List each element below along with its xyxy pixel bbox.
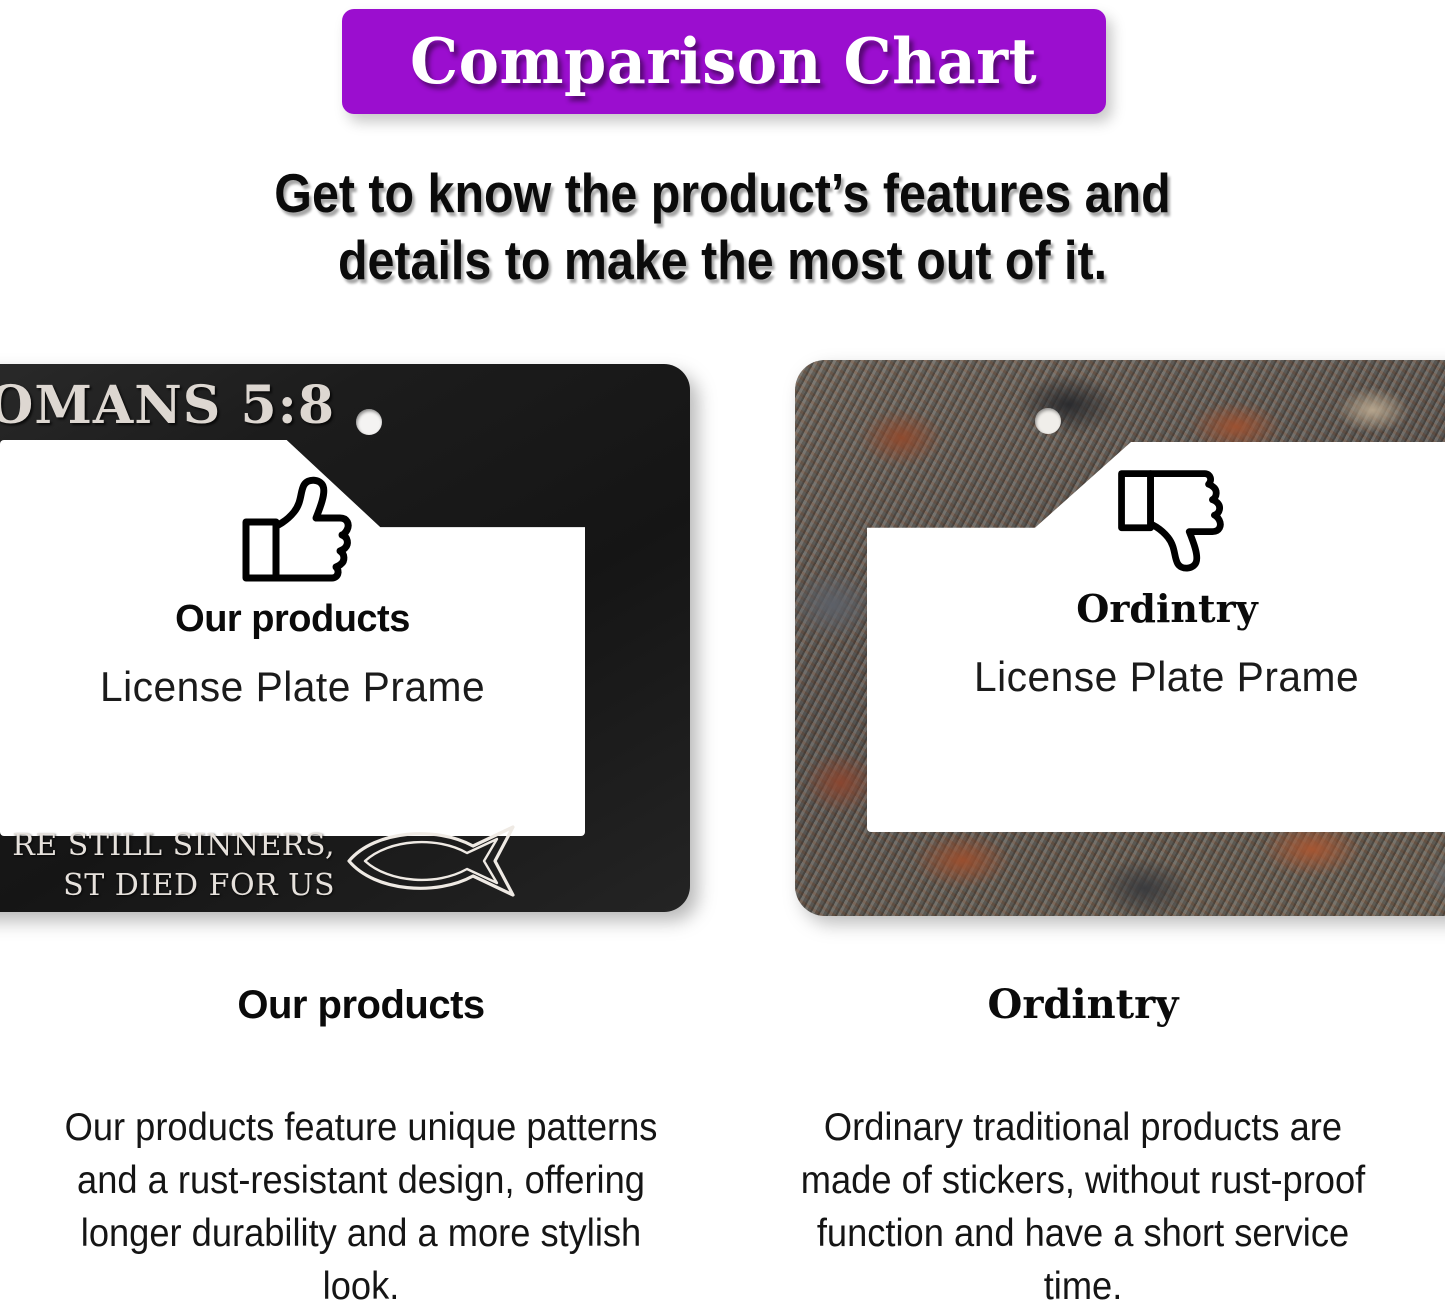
- ordinary-product-frame-image: Ordintry License Plate Prame: [795, 360, 1445, 916]
- subtitle-line-1: Get to know the product’s features and: [87, 160, 1359, 227]
- left-window-heading: Our products: [175, 600, 410, 638]
- frame-engraved-bottom-text: RE STILL SINNERS, ST DIED FOR US: [0, 826, 335, 905]
- comparison-chart-banner: Comparison Chart: [342, 9, 1106, 114]
- right-window-heading: Ordintry: [1076, 590, 1257, 628]
- product-image-row: OMANS 5:8 Our products License Plate Pra…: [0, 356, 1445, 926]
- thumbs-down-icon: [1108, 464, 1226, 576]
- right-window-subheading: License Plate Prame: [974, 656, 1359, 698]
- ichthys-fish-icon: [345, 822, 545, 900]
- comparison-chart-page: Comparison Chart Get to know the product…: [0, 0, 1445, 1314]
- left-window-subheading: License Plate Prame: [100, 666, 485, 708]
- our-products-title: Our products: [36, 985, 686, 1025]
- ordintry-description: Ordinary traditional products are made o…: [781, 1101, 1386, 1313]
- our-product-frame-image: OMANS 5:8 Our products License Plate Pra…: [0, 364, 690, 912]
- engraved-bottom-line-1: RE STILL SINNERS,: [12, 828, 335, 863]
- ordintry-column: Ordintry Ordinary traditional products a…: [722, 985, 1444, 1314]
- mounting-hole-icon: [356, 409, 382, 435]
- our-products-column: Our products Our products feature unique…: [0, 985, 722, 1314]
- thumbs-up-icon: [232, 474, 354, 586]
- page-title: Comparison Chart: [410, 30, 1037, 93]
- engraved-bottom-line-2: ST DIED FOR US: [63, 868, 335, 903]
- ordintry-title: Ordintry: [758, 985, 1408, 1025]
- subtitle-line-2: details to make the most out of it.: [87, 227, 1359, 294]
- frame-engraved-top-text: OMANS 5:8: [0, 380, 335, 432]
- our-products-description: Our products feature unique patterns and…: [59, 1101, 664, 1313]
- page-subtitle: Get to know the product’s features and d…: [87, 160, 1359, 294]
- comparison-text-row: Our products Our products feature unique…: [0, 985, 1445, 1314]
- mounting-hole-icon: [1035, 408, 1061, 434]
